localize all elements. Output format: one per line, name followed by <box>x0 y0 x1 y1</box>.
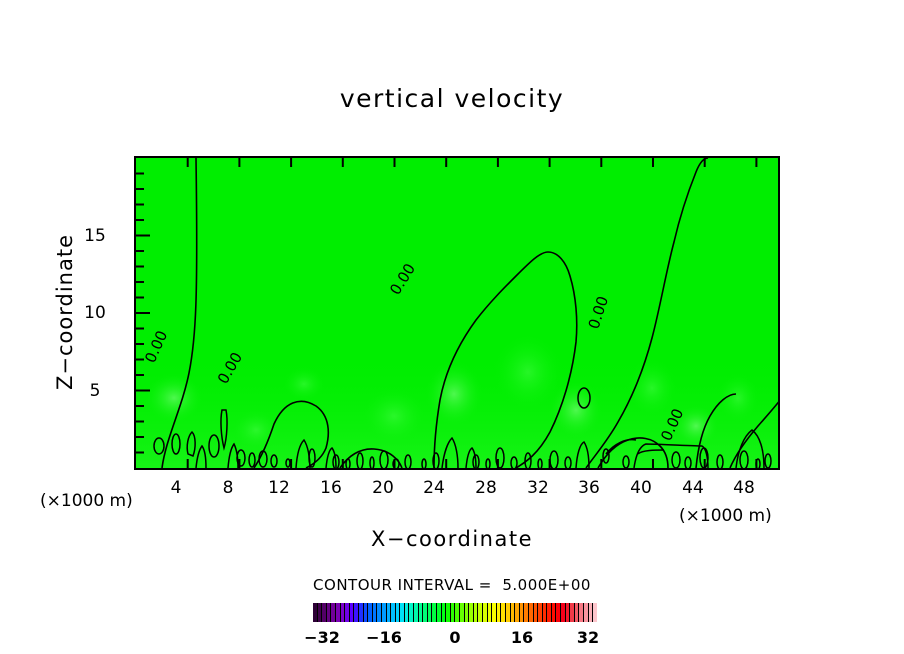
x-tick-label: 24 <box>414 478 454 498</box>
colorbar-cell <box>547 603 551 622</box>
colorbar-cell <box>488 603 492 622</box>
colorbar-tick-label: −16 <box>354 628 414 647</box>
colorbar-cell <box>409 603 413 622</box>
field-patch <box>548 380 604 440</box>
colorbar-tick-label: 16 <box>492 628 552 647</box>
field-patch <box>360 386 428 446</box>
colorbar-cell <box>469 603 473 622</box>
y-tick-label: 5 <box>80 381 110 401</box>
colorbar-cell <box>570 603 574 622</box>
colorbar-cell <box>584 603 588 622</box>
colorbar[interactable] <box>313 603 597 622</box>
colorbar-cell <box>414 603 418 622</box>
colorbar-cell <box>483 603 487 622</box>
colorbar-cell <box>506 603 510 622</box>
colorbar-cell <box>377 603 381 622</box>
colorbar-cell <box>478 603 482 622</box>
colorbar-cell <box>428 603 432 622</box>
colorbar-cell <box>451 603 455 622</box>
colorbar-cell <box>341 603 345 622</box>
colorbar-cell <box>318 603 322 622</box>
colorbar-cell <box>529 603 533 622</box>
x-tick-label: 20 <box>363 478 403 498</box>
field-patch <box>230 408 282 452</box>
colorbar-cell <box>515 603 519 622</box>
colorbar-cell <box>400 603 404 622</box>
colorbar-cell <box>382 603 386 622</box>
colorbar-cell <box>432 603 436 622</box>
y-tick-label: 15 <box>80 226 110 246</box>
colorbar-cell <box>575 603 579 622</box>
x-tick-label: 12 <box>259 478 299 498</box>
colorbar-cell <box>455 603 459 622</box>
colorbar-cell <box>474 603 478 622</box>
colorbar-cell <box>511 603 515 622</box>
x-tick-label: 44 <box>673 478 713 498</box>
y-axis-title: Z−coordinate <box>53 212 77 412</box>
contour-plot-area[interactable]: 0.00 0.00 0.00 0.00 0.00 <box>134 156 780 470</box>
contour-field-svg: 0.00 0.00 0.00 0.00 0.00 <box>136 158 778 468</box>
colorbar-cell <box>387 603 391 622</box>
colorbar-cell <box>345 603 349 622</box>
colorbar-cell <box>492 603 496 622</box>
colorbar-cell <box>524 603 528 622</box>
colorbar-cell <box>497 603 501 622</box>
colorbar-cell <box>520 603 524 622</box>
y-tick-label: 10 <box>80 303 110 323</box>
colorbar-cell <box>589 603 593 622</box>
colorbar-cell <box>423 603 427 622</box>
colorbar-tick-labels: −32 −16 0 16 32 <box>300 628 610 650</box>
colorbar-cell <box>442 603 446 622</box>
x-tick-label: 40 <box>621 478 661 498</box>
y-axis-unit-label: (×1000 m) <box>40 491 133 511</box>
colorbar-cell <box>331 603 335 622</box>
colorbar-cell <box>350 603 354 622</box>
colorbar-cell <box>396 603 400 622</box>
colorbar-cell <box>446 603 450 622</box>
colorbar-cell <box>354 603 358 622</box>
x-tick-label: 32 <box>518 478 558 498</box>
colorbar-cell <box>561 603 565 622</box>
colorbar-tick-label: −32 <box>292 628 352 647</box>
colorbar-cells <box>313 603 597 622</box>
page-title: vertical velocity <box>0 84 904 113</box>
colorbar-cell <box>566 603 570 622</box>
x-tick-label: 8 <box>208 478 248 498</box>
colorbar-cell <box>373 603 377 622</box>
contour-interval-caption: CONTOUR INTERVAL = 5.000E+00 <box>0 576 904 594</box>
colorbar-cell <box>368 603 372 622</box>
x-axis-title: X−coordinate <box>0 527 904 551</box>
colorbar-cell <box>327 603 331 622</box>
field-patch <box>282 366 326 402</box>
colorbar-cell <box>460 603 464 622</box>
colorbar-cell <box>364 603 368 622</box>
colorbar-cell <box>552 603 556 622</box>
figure-canvas: vertical velocity <box>0 0 904 654</box>
colorbar-cell <box>501 603 505 622</box>
colorbar-cell <box>534 603 538 622</box>
x-tick-label: 48 <box>724 478 764 498</box>
x-tick-label: 36 <box>569 478 609 498</box>
colorbar-tick-label: 32 <box>558 628 618 647</box>
x-tick-label: 28 <box>466 478 506 498</box>
colorbar-cell <box>538 603 542 622</box>
colorbar-cell <box>405 603 409 622</box>
field-patch <box>424 360 484 428</box>
x-tick-label: 16 <box>311 478 351 498</box>
colorbar-tick-label: 0 <box>425 628 485 647</box>
colorbar-cell <box>336 603 340 622</box>
colorbar-cell <box>313 603 317 622</box>
colorbar-cell <box>579 603 583 622</box>
colorbar-cell <box>391 603 395 622</box>
colorbar-cell <box>593 603 597 622</box>
field-patch <box>716 372 760 424</box>
colorbar-cell <box>543 603 547 622</box>
colorbar-cell <box>359 603 363 622</box>
colorbar-cell <box>322 603 326 622</box>
colorbar-cell <box>437 603 441 622</box>
x-axis-unit-label: (×1000 m) <box>679 506 772 526</box>
x-tick-label: 4 <box>156 478 196 498</box>
colorbar-cell <box>465 603 469 622</box>
field-patch <box>144 372 204 424</box>
colorbar-cell <box>556 603 560 622</box>
colorbar-cell <box>419 603 423 622</box>
